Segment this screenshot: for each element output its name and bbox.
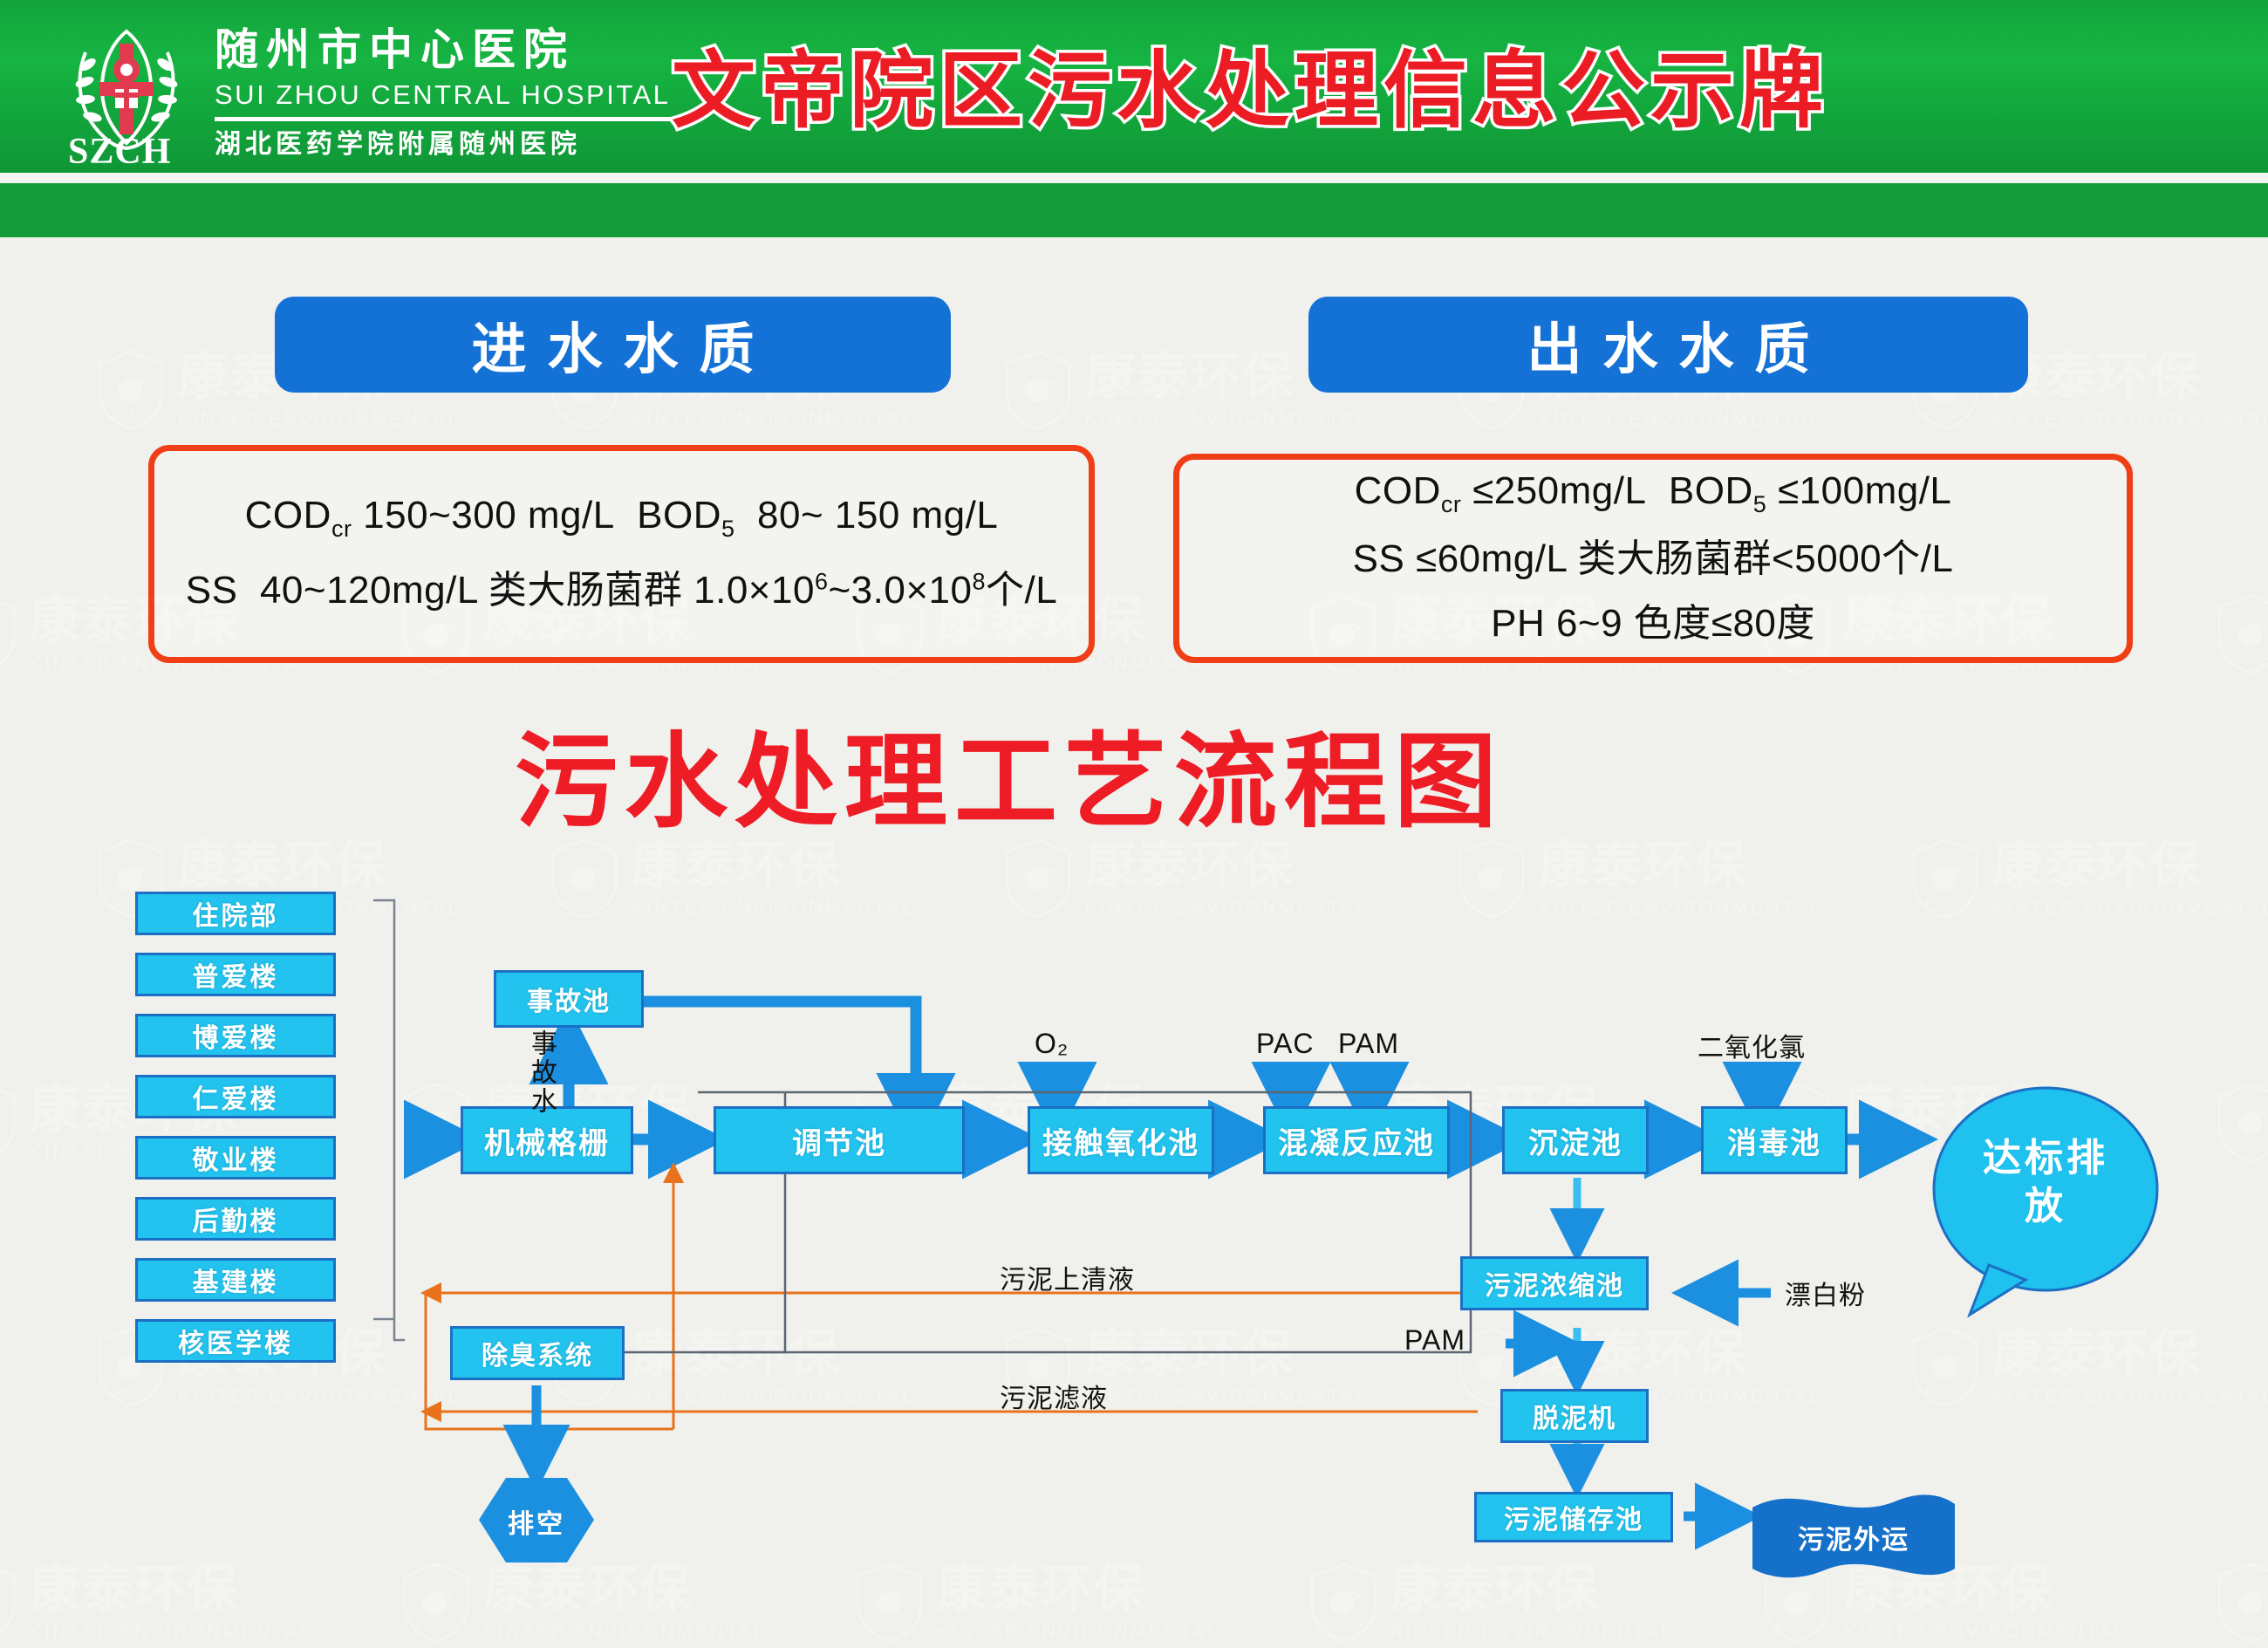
node-mechanical-screen[interactable]: 机械格栅 (461, 1106, 633, 1174)
node-sedimentation-tank[interactable]: 沉淀池 (1502, 1106, 1649, 1174)
effluent-line-3: PH 6~9 色度≤80度 (1491, 592, 1815, 647)
watermark-en: KINTEP ENVIRONMENTAL (1844, 1623, 2128, 1641)
node-equalization-tank[interactable]: 调节池 (714, 1106, 965, 1174)
terminal-sludge-out-label: 污泥外运 (1749, 1518, 1958, 1556)
svg-text:KINTEP: KINTEP (1472, 409, 1512, 420)
svg-text:KINTEP: KINTEP (1018, 409, 1058, 420)
kintep-shield-icon: KINTEP (2216, 593, 2268, 675)
watermark-en: KINTEP ENVIRONMENTAL (1085, 410, 1369, 428)
hospital-name-rule (215, 117, 670, 121)
svg-text:KINTEP: KINTEP (416, 1622, 456, 1632)
watermark-cn: 康泰环保 (178, 840, 461, 891)
node-sludge-thickener[interactable]: 污泥浓缩池 (1460, 1256, 1649, 1310)
effluent-line-2: SS ≤60mg/L 类大肠菌群<5000个/L (1353, 527, 1954, 583)
watermark-en: KINTEP ENVIRONMENTAL (483, 1623, 767, 1641)
node-sludge-storage[interactable]: 污泥储存池 (1474, 1492, 1673, 1542)
svg-text:KINTEP: KINTEP (2230, 1622, 2268, 1632)
effluent-line-1: CODcr ≤250mg/L BOD5 ≤100mg/L (1355, 469, 1952, 518)
svg-text:KINTEP: KINTEP (1925, 409, 1965, 420)
influent-line-1: CODcr 150~300 mg/L BOD5 80~ 150 mg/L (245, 494, 999, 543)
watermark-en: KINTEP ENVIRONMENTAL (30, 1623, 313, 1641)
node-coagulation-tank[interactable]: 混凝反应池 (1263, 1106, 1450, 1174)
hospital-name-sub: 湖北医药学院附属随州医院 (215, 132, 670, 158)
terminal-discharge-label: 达标排放 (1963, 1134, 2128, 1230)
building-item-3[interactable]: 博爱楼 (135, 1014, 336, 1057)
svg-text:KINTEP: KINTEP (1323, 1622, 1363, 1632)
label-accident-water: 事故水 (522, 1029, 560, 1116)
watermark-en: KINTEP ENVIRONMENTAL (1992, 410, 2268, 428)
svg-text:KINTEP: KINTEP (1777, 1622, 1817, 1632)
svg-text:KINTEP: KINTEP (0, 653, 3, 664)
hospital-abbr: SZCH (68, 131, 171, 173)
svg-text:KINTEP: KINTEP (870, 1622, 910, 1632)
svg-text:KINTEP: KINTEP (2230, 653, 2268, 664)
process-flow-title: 污水处理工艺流程图 (515, 698, 1504, 847)
header-divider (0, 173, 2268, 183)
svg-text:KINTEP: KINTEP (111, 409, 151, 420)
label-pac: PAC (1256, 1028, 1314, 1060)
building-item-5[interactable]: 敬业楼 (135, 1136, 336, 1180)
influent-banner: 进水水质 (275, 297, 951, 393)
watermark-en: KINTEP ENVIRONMENTAL (632, 410, 915, 428)
building-item-4[interactable]: 仁爱楼 (135, 1075, 336, 1118)
building-item-6[interactable]: 后勤楼 (135, 1197, 336, 1241)
effluent-banner: 出水水质 (1308, 297, 2028, 393)
influent-quality-box: CODcr 150~300 mg/L BOD5 80~ 150 mg/L SS … (148, 445, 1095, 663)
node-contact-oxidation[interactable]: 接触氧化池 (1028, 1106, 1214, 1174)
influent-line-2: SS 40~120mg/L 类大肠菌群 1.0×106~3.0×108个/L (186, 558, 1057, 614)
watermark-en: KINTEP ENVIRONMENTAL (1539, 410, 1822, 428)
label-pam-sludge: PAM (1404, 1324, 1465, 1357)
label-pam: PAM (1338, 1028, 1399, 1060)
header-green-band-lower (0, 183, 2268, 237)
node-accident-tank[interactable]: 事故池 (494, 970, 644, 1028)
building-item-8[interactable]: 核医学楼 (135, 1319, 336, 1363)
node-disinfection-tank[interactable]: 消毒池 (1701, 1106, 1848, 1174)
kintep-shield-icon: KINTEP (96, 349, 166, 431)
building-item-1[interactable]: 住院部 (135, 892, 336, 935)
hospital-name-block: 随州市中心医院 SUI ZHOU CENTRAL HOSPITAL 湖北医药学院… (215, 23, 670, 158)
watermark-mark: KINTEP康泰环保KINTEP ENVIRONMENTAL (2216, 593, 2268, 675)
kintep-shield-icon: KINTEP (0, 593, 17, 675)
label-o2: O₂ (1035, 1028, 1069, 1060)
terminal-vent-label: 排空 (475, 1502, 598, 1541)
svg-text:KINTEP: KINTEP (564, 409, 605, 420)
watermark-cn: 康泰环保 (632, 840, 915, 891)
watermark-cn: 康泰环保 (1992, 840, 2268, 891)
building-item-2[interactable]: 普爱楼 (135, 953, 336, 996)
watermark-cn: 康泰环保 (1539, 840, 1822, 891)
effluent-quality-box: CODcr ≤250mg/L BOD5 ≤100mg/L SS ≤60mg/L … (1173, 454, 2133, 663)
watermark-en: KINTEP ENVIRONMENTAL (178, 410, 461, 428)
svg-text:KINTEP: KINTEP (0, 1622, 3, 1632)
hospital-name-cn: 随州市中心医院 (215, 28, 670, 72)
label-sludge-filtrate: 污泥滤液 (1000, 1377, 1108, 1415)
node-deodorization-system[interactable]: 除臭系统 (450, 1326, 625, 1380)
watermark-en: KINTEP ENVIRONMENTAL (1390, 1623, 1674, 1641)
hospital-name-en: SUI ZHOU CENTRAL HOSPITAL (215, 81, 670, 108)
building-item-7[interactable]: 基建楼 (135, 1258, 336, 1302)
node-dewatering-machine[interactable]: 脱泥机 (1500, 1389, 1649, 1443)
label-bleaching-powder: 漂白粉 (1785, 1274, 1866, 1312)
label-sludge-supernatant: 污泥上清液 (1000, 1258, 1135, 1296)
watermark-en: KINTEP ENVIRONMENTAL (937, 1623, 1220, 1641)
kintep-shield-icon: KINTEP (1003, 349, 1073, 431)
watermark-cn: 康泰环保 (1085, 840, 1369, 891)
watermark-cn: 康泰环保 (1992, 352, 2268, 402)
page-title: 文帝院区污水处理信息公示牌 (672, 23, 1828, 144)
label-chlorine-dioxide: 二氧化氯 (1698, 1026, 1806, 1064)
